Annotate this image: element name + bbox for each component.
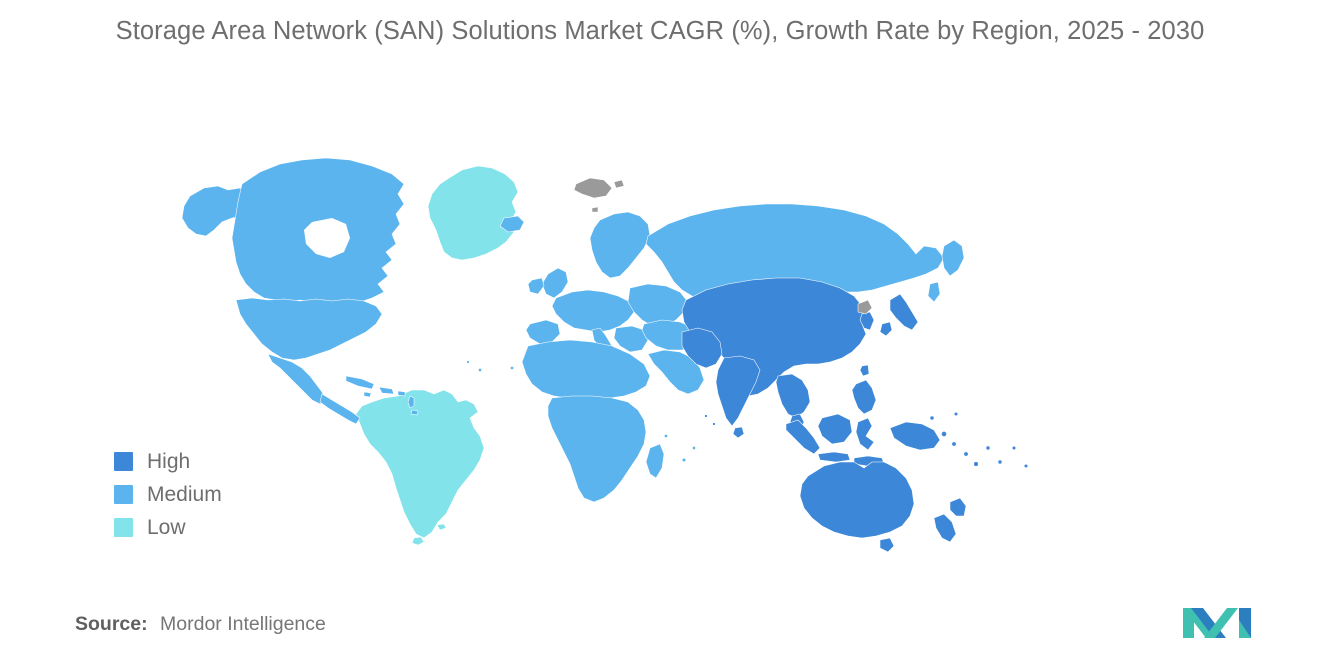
map-region-pacific-island-dot[interactable]	[974, 462, 979, 467]
map-region-trinidad[interactable]	[411, 410, 418, 415]
map-region-group-asia-pacific	[682, 278, 1028, 552]
map-region-pacific-island-dot[interactable]	[952, 442, 956, 446]
map-region-united-states[interactable]	[236, 298, 382, 360]
map-region-sakhalin[interactable]	[928, 282, 940, 302]
source-value: Mordor Intelligence	[160, 613, 326, 635]
legend-swatch-high	[114, 452, 133, 471]
map-region-central-america[interactable]	[320, 394, 360, 424]
map-region-indochina[interactable]	[776, 374, 810, 418]
map-region-group-low	[428, 166, 518, 260]
map-region-new-zealand-north[interactable]	[950, 498, 966, 516]
map-region-sub-saharan-africa[interactable]	[548, 396, 646, 502]
map-region-pacific-island-dot[interactable]	[964, 452, 968, 456]
map-region-group-africa	[522, 320, 704, 502]
map-region-island-dot[interactable]	[705, 415, 708, 418]
map-region-hispaniola[interactable]	[379, 387, 394, 394]
map-region-australia[interactable]	[800, 462, 914, 538]
map-region-south-america[interactable]	[356, 390, 484, 538]
map-region-tierra-del-fuego[interactable]	[412, 537, 424, 545]
map-region-group-north-america	[182, 158, 418, 424]
map-region-sumatra[interactable]	[786, 420, 820, 454]
source-label: Source:	[75, 613, 148, 635]
chart-title: Storage Area Network (SAN) Solutions Mar…	[60, 14, 1260, 49]
map-region-pacific-island-dot[interactable]	[998, 460, 1002, 464]
map-region-pacific-island-dot[interactable]	[930, 416, 934, 420]
map-region-new-zealand-south[interactable]	[934, 514, 956, 542]
map-region-japan-kyushu[interactable]	[880, 322, 892, 336]
legend-item-medium[interactable]: Medium	[114, 483, 222, 505]
map-region-island-dot[interactable]	[664, 434, 667, 437]
map-region-bear-island[interactable]	[592, 207, 598, 212]
map-legend: High Medium Low	[114, 450, 222, 538]
map-region-greenland[interactable]	[428, 166, 518, 260]
map-region-island-dot[interactable]	[682, 458, 686, 462]
map-region-western-europe[interactable]	[552, 290, 634, 332]
legend-swatch-medium	[114, 485, 133, 504]
legend-label-medium: Medium	[147, 484, 222, 505]
map-region-island-dot[interactable]	[467, 361, 470, 364]
map-region-kamchatka[interactable]	[942, 240, 964, 276]
map-region-island-dot[interactable]	[478, 368, 481, 371]
map-region-jamaica[interactable]	[364, 392, 371, 397]
map-region-pacific-island-dot[interactable]	[1012, 446, 1016, 450]
map-region-falkland-islands[interactable]	[437, 524, 446, 530]
map-region-japan[interactable]	[890, 294, 918, 330]
map-region-java[interactable]	[818, 452, 850, 462]
map-region-pacific-island-dot[interactable]	[1024, 464, 1028, 468]
map-region-papua-new-guinea[interactable]	[890, 422, 940, 450]
map-region-pacific-island-dot[interactable]	[954, 412, 958, 416]
mordor-intelligence-logo	[1181, 598, 1259, 644]
map-region-ireland[interactable]	[528, 278, 544, 294]
source-line: Source: Mordor Intelligence	[75, 613, 326, 636]
map-region-island-dot[interactable]	[692, 446, 695, 449]
map-region-borneo[interactable]	[818, 414, 852, 444]
map-region-island-dot[interactable]	[510, 366, 513, 369]
map-region-puerto-rico[interactable]	[398, 391, 405, 396]
chart-canvas: Storage Area Network (SAN) Solutions Mar…	[0, 0, 1320, 665]
map-region-taiwan[interactable]	[860, 365, 869, 376]
legend-item-high[interactable]: High	[114, 450, 222, 472]
map-region-cuba[interactable]	[346, 376, 374, 389]
map-region-svalbard-islet[interactable]	[614, 180, 624, 188]
map-region-philippines[interactable]	[852, 380, 876, 414]
map-region-group-south-america	[356, 390, 484, 545]
map-region-tasmania[interactable]	[880, 538, 894, 552]
map-region-eastern-europe[interactable]	[628, 284, 688, 326]
map-region-madagascar[interactable]	[646, 444, 664, 478]
map-region-sri-lanka[interactable]	[733, 427, 744, 438]
legend-label-high: High	[147, 451, 190, 472]
legend-label-low: Low	[147, 517, 186, 538]
map-region-pacific-island-dot[interactable]	[941, 431, 946, 436]
map-region-svalbard[interactable]	[574, 178, 612, 198]
map-region-mexico[interactable]	[268, 354, 326, 404]
map-region-scandinavia[interactable]	[590, 212, 650, 278]
map-region-iberia[interactable]	[526, 320, 560, 344]
legend-item-low[interactable]: Low	[114, 516, 222, 538]
legend-swatch-low	[114, 518, 133, 537]
map-region-sulawesi[interactable]	[856, 418, 874, 450]
map-region-british-isles[interactable]	[542, 268, 568, 298]
map-region-pacific-island-dot[interactable]	[986, 446, 990, 450]
map-region-island-dot[interactable]	[713, 423, 716, 426]
mi-logo-glyph	[1181, 598, 1259, 644]
